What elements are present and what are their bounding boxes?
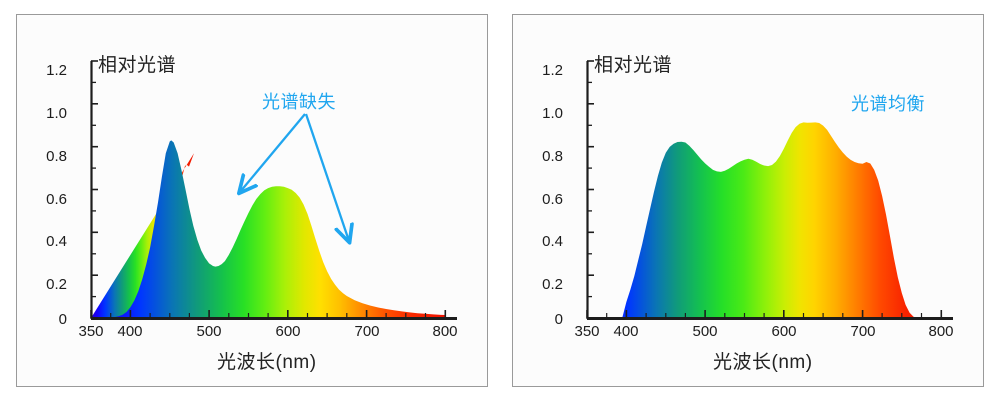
x-tick-label-400: 400 xyxy=(604,323,648,340)
x-tick-label-800: 800 xyxy=(919,323,963,340)
y-tick-label-1-2: 1.2 xyxy=(25,62,67,79)
x-tick-label-600: 600 xyxy=(266,323,310,340)
spectrum-comparison-figure: 1.2 1.0 0.8 0.6 0.4 0.2 0 350 400 500 60… xyxy=(0,0,1000,401)
y-tick-label-1-0: 1.0 xyxy=(521,105,563,122)
y-tick-label-0: 0 xyxy=(521,311,563,328)
y-tick-label-0-4: 0.4 xyxy=(25,233,67,250)
spectrum-fill-left xyxy=(91,140,446,318)
x-tick-label-350: 350 xyxy=(565,323,609,340)
y-tick-label-0-6: 0.6 xyxy=(25,191,67,208)
spectrum-fill-right xyxy=(587,122,942,318)
x-tick-label-500: 500 xyxy=(187,323,231,340)
chart-title: 相对光谱 xyxy=(594,50,672,77)
x-tick-label-500: 500 xyxy=(683,323,727,340)
y-tick-label-1-0: 1.0 xyxy=(25,105,67,122)
chart-title: 相对光谱 xyxy=(98,50,176,77)
y-tick-label-0-8: 0.8 xyxy=(521,148,563,165)
x-axis-title: 光波长(nm) xyxy=(217,347,317,374)
y-tick-label-0-2: 0.2 xyxy=(521,276,563,293)
y-tick-label-0-4: 0.4 xyxy=(521,233,563,250)
x-tick-label-600: 600 xyxy=(762,323,806,340)
annotation-spectrum-balanced: 光谱均衡 xyxy=(851,90,925,116)
x-tick-label-700: 700 xyxy=(841,323,885,340)
plot-area-left: 1.2 1.0 0.8 0.6 0.4 0.2 0 350 400 500 60… xyxy=(17,15,487,386)
y-tick-label-0-6: 0.6 xyxy=(521,191,563,208)
y-tick-label-1-2: 1.2 xyxy=(521,62,563,79)
x-tick-label-800: 800 xyxy=(423,323,467,340)
panel-left-deficient-spectrum: 1.2 1.0 0.8 0.6 0.4 0.2 0 350 400 500 60… xyxy=(16,14,488,387)
y-tick-label-0-2: 0.2 xyxy=(25,276,67,293)
y-tick-label-0: 0 xyxy=(25,311,67,328)
x-tick-label-700: 700 xyxy=(345,323,389,340)
annotation-spectrum-deficiency: 光谱缺失 xyxy=(262,88,336,114)
plot-area-right: 1.2 1.0 0.8 0.6 0.4 0.2 0 350 400 500 60… xyxy=(513,15,983,386)
y-tick-label-0-8: 0.8 xyxy=(25,148,67,165)
panel-right-balanced-spectrum: 1.2 1.0 0.8 0.6 0.4 0.2 0 350 400 500 60… xyxy=(512,14,984,387)
x-tick-label-350: 350 xyxy=(69,323,113,340)
x-tick-label-400: 400 xyxy=(108,323,152,340)
x-axis-title: 光波长(nm) xyxy=(713,347,813,374)
